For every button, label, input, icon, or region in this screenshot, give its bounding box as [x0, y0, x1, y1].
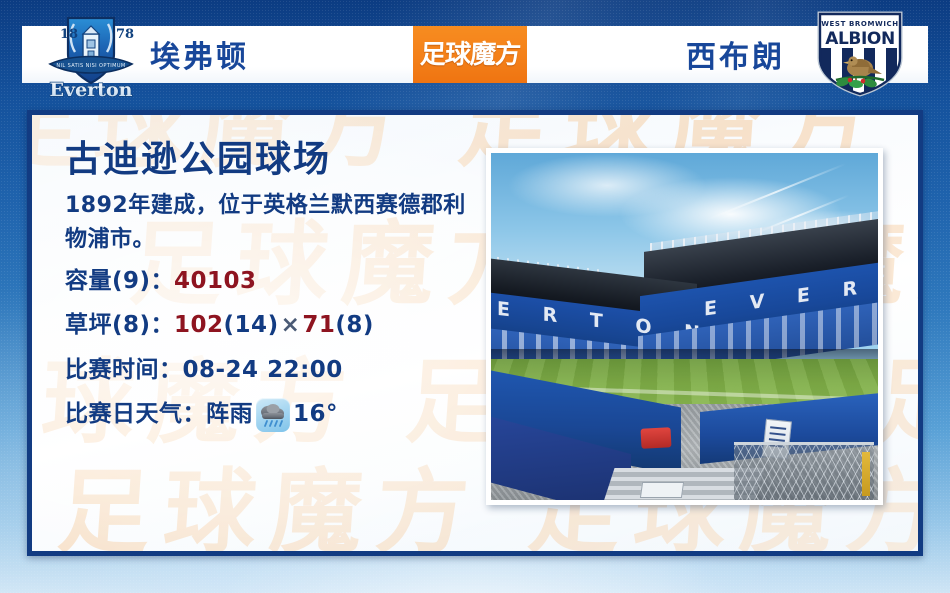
- west-bromwich-albion-crest: WEST BROMWICH ALBION: [812, 6, 908, 100]
- capacity-label: 容量(9)：: [65, 268, 174, 294]
- match-time-row: 比赛时间：08-24 22:00: [65, 352, 485, 389]
- capacity-row: 容量(9)：40103: [65, 263, 485, 300]
- everton-crest: 18 78 NIL SATIS NISI OPTIMUM Everton: [38, 4, 144, 102]
- multiply-symbol: ×: [279, 312, 303, 338]
- site-logo-text: 足球魔方: [419, 42, 520, 68]
- photo-notice-placard: [640, 482, 684, 498]
- match-weather-row: 比赛日天气：阵雨: [65, 396, 485, 433]
- svg-text:78: 78: [116, 27, 134, 42]
- weather-label: 比赛日天气：: [65, 396, 206, 433]
- pitch-width-rank: (8): [335, 312, 374, 338]
- pitch-length-rank: (14): [224, 312, 279, 338]
- stadium-info-panel: 足球魔方 足球魔方 足球魔方 足球魔方 足球魔方 足球魔方 足球魔方 足球魔方 …: [27, 110, 923, 556]
- svg-text:WEST BROMWICH: WEST BROMWICH: [821, 20, 899, 28]
- svg-text:ALBION: ALBION: [825, 29, 895, 49]
- match-time-label: 比赛时间：: [65, 357, 183, 383]
- photo-yellow-post: [862, 452, 870, 496]
- pitch-label: 草坪(8)：: [65, 312, 174, 338]
- pitch-size-row: 草坪(8)：102(14)×71(8): [65, 307, 485, 344]
- stadium-photo-frame[interactable]: E R T O N E V E R: [486, 148, 883, 505]
- match-time-value: 08-24 22:00: [183, 357, 343, 383]
- svg-text:Everton: Everton: [50, 79, 133, 101]
- site-logo[interactable]: 足球魔方: [413, 26, 527, 83]
- svg-text:18: 18: [60, 27, 78, 42]
- goodison-park-photo: E R T O N E V E R: [491, 153, 878, 500]
- stadium-info-column: 古迪逊公园球场 1892年建成，位于英格兰默西赛德郡利物浦市。 容量(9)：40…: [65, 140, 485, 433]
- photo-red-equipment-box: [640, 427, 671, 449]
- away-team-name: 西布朗: [686, 28, 785, 80]
- svg-text:NIL SATIS NISI OPTIMUM: NIL SATIS NISI OPTIMUM: [56, 63, 125, 69]
- pitch-width-value: 71: [302, 312, 335, 338]
- capacity-value: 40103: [174, 268, 257, 294]
- match-preview-canvas: 18 78 NIL SATIS NISI OPTIMUM Everton 埃弗顿…: [0, 0, 950, 593]
- weather-condition: 阵雨: [206, 396, 253, 433]
- rain-shower-icon: [256, 398, 290, 432]
- weather-temperature: 16°: [293, 396, 338, 433]
- pitch-length-value: 102: [174, 312, 224, 338]
- stadium-title: 古迪逊公园球场: [65, 140, 485, 180]
- photo-mesh-fence: [734, 442, 874, 500]
- stadium-description: 1892年建成，位于英格兰默西赛德郡利物浦市。: [65, 189, 475, 256]
- home-team-name: 埃弗顿: [150, 28, 249, 80]
